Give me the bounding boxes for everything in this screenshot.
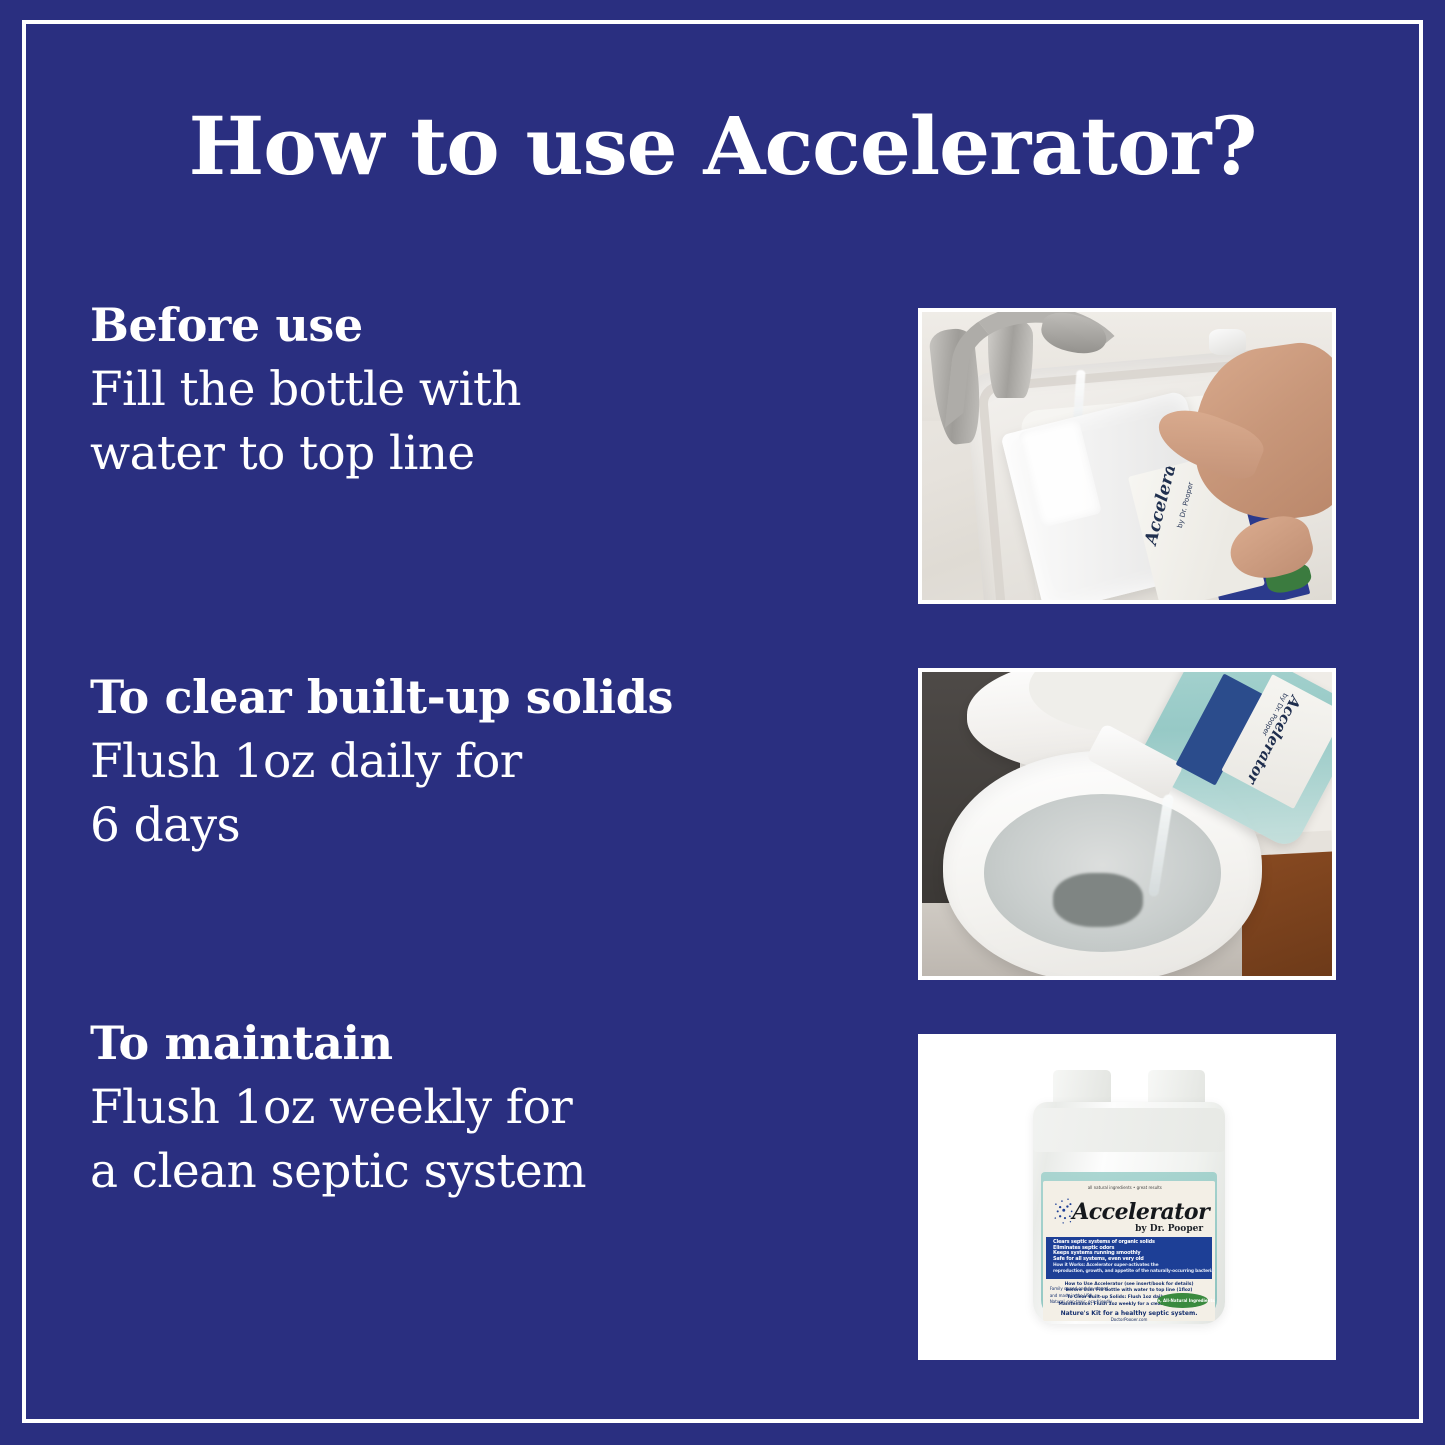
page-title: How to use Accelerator?: [0, 106, 1445, 188]
label-bullet: Safe for all systems, even very old: [1053, 1256, 1144, 1262]
step-clear-built-up-solids: To clear built-up solids Flush 1oz daily…: [90, 672, 673, 858]
label-how-it-works-line: How it Works: Accelerator super-activate…: [1053, 1263, 1158, 1268]
bottle-brand-sub-text: by Dr. Pooper: [1177, 481, 1196, 529]
step-heading: To maintain: [90, 1018, 586, 1070]
step-before-use: Before use Fill the bottle with water to…: [90, 300, 521, 486]
step-body-line: Flush 1oz weekly for: [90, 1076, 586, 1140]
label-made-in-text: Family owned and developed, and made in …: [1050, 1286, 1113, 1305]
sink-scene-illustration: Accelerator by Dr. Pooper: [922, 312, 1332, 600]
label-natural-ingredients-badge: Safe, All-Natural Ingredients: [1157, 1293, 1209, 1308]
step-to-maintain: To maintain Flush 1oz weekly for a clean…: [90, 1018, 586, 1204]
label-how-it-works-line: reproduction, growth, and appetite of th…: [1053, 1269, 1215, 1274]
toilet-bowl-drain: [1053, 873, 1143, 928]
product-scene-illustration: all natural ingredients • great results …: [922, 1038, 1332, 1356]
step-body-line: 6 days: [90, 794, 673, 858]
label-made-in-line: and made in the USA.: [1050, 1293, 1094, 1298]
label-made-in-line: Natural, non-toxic, eco-friendly.: [1050, 1299, 1113, 1304]
photo-inner: all natural ingredients • great results …: [922, 1038, 1332, 1356]
step-body: Flush 1oz daily for 6 days: [90, 730, 673, 858]
label-brand-sub-text: by Dr. Pooper: [1135, 1224, 1203, 1234]
step-body-line: water to top line: [90, 422, 521, 486]
step-heading: Before use: [90, 300, 521, 352]
step-body: Fill the bottle with water to top line: [90, 358, 521, 486]
label-website-text: DoctorPooper.com: [1043, 1317, 1215, 1321]
step-body-line: Flush 1oz daily for: [90, 730, 673, 794]
photo-pouring-into-toilet: Accelerator by Dr. Pooper: [918, 668, 1336, 980]
label-benefits-panel: Clears septic systems of organic solids …: [1046, 1237, 1211, 1279]
photo-product-bottle: all natural ingredients • great results …: [918, 1034, 1336, 1360]
instruction-poster: How to use Accelerator? Before use Fill …: [0, 0, 1445, 1445]
bottle-label: all natural ingredients • great results …: [1043, 1181, 1215, 1321]
step-body-line: a clean septic system: [90, 1140, 586, 1204]
label-made-in-line: Family owned and developed,: [1050, 1286, 1110, 1291]
label-brand-text: Accelerator: [1072, 1199, 1209, 1225]
label-tagline-top: all natural ingredients • great results: [1088, 1185, 1162, 1190]
bottle-cap-loose: [1209, 329, 1246, 355]
label-badge-text: Safe, All-Natural Ingredients: [1157, 1293, 1209, 1308]
step-body-line: Fill the bottle with: [90, 358, 521, 422]
step-body: Flush 1oz weekly for a clean septic syst…: [90, 1076, 586, 1204]
step-heading: To clear built-up solids: [90, 672, 673, 724]
photo-inner: Accelerator by Dr. Pooper: [922, 672, 1332, 976]
photo-inner: Accelerator by Dr. Pooper: [922, 312, 1332, 600]
toilet-scene-illustration: Accelerator by Dr. Pooper: [922, 672, 1332, 976]
photo-filling-bottle-at-sink: Accelerator by Dr. Pooper: [918, 308, 1336, 604]
bottle-shoulder: [1033, 1108, 1226, 1153]
